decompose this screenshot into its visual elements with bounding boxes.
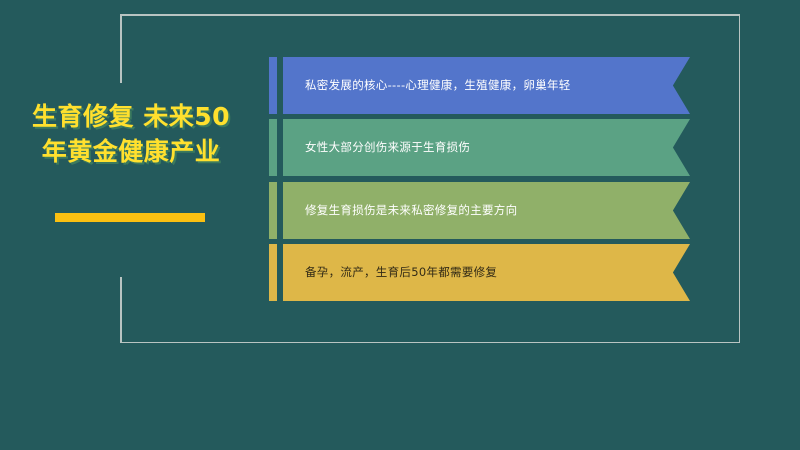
banner-row[interactable]: 女性大部分创伤来源于生育损伤 (269, 119, 690, 176)
frame-bottom-line (120, 342, 739, 344)
slide-canvas: 生育修复 未来50年黄金健康产业 私密发展的核心----心理健康，生殖健康，卵巢… (0, 0, 800, 450)
banner-row[interactable]: 备孕，流产，生育后50年都需要修复 (269, 244, 690, 301)
banner-label: 女性大部分创伤来源于生育损伤 (283, 141, 470, 155)
banner-body[interactable]: 备孕，流产，生育后50年都需要修复 (283, 244, 690, 301)
frame-left-lower-line (120, 277, 122, 342)
banner-accent-tab (269, 182, 277, 239)
banner-row[interactable]: 私密发展的核心----心理健康，生殖健康，卵巢年轻 (269, 57, 690, 114)
frame-left-upper-line (120, 14, 122, 83)
frame-top-line (120, 14, 740, 16)
banner-accent-tab (269, 119, 277, 176)
banner-accent-tab (269, 57, 277, 114)
slide-title: 生育修复 未来50年黄金健康产业 (20, 100, 242, 169)
banner-label: 备孕，流产，生育后50年都需要修复 (283, 266, 497, 280)
banner-label: 私密发展的核心----心理健康，生殖健康，卵巢年轻 (283, 79, 571, 93)
banner-body[interactable]: 女性大部分创伤来源于生育损伤 (283, 119, 690, 176)
banner-body[interactable]: 修复生育损伤是未来私密修复的主要方向 (283, 182, 690, 239)
title-underline-bar (55, 213, 205, 222)
banner-row[interactable]: 修复生育损伤是未来私密修复的主要方向 (269, 182, 690, 239)
frame-right-line (739, 14, 741, 343)
title-block: 生育修复 未来50年黄金健康产业 (20, 100, 242, 169)
banner-label: 修复生育损伤是未来私密修复的主要方向 (283, 204, 517, 218)
banner-body[interactable]: 私密发展的核心----心理健康，生殖健康，卵巢年轻 (283, 57, 690, 114)
banner-accent-tab (269, 244, 277, 301)
